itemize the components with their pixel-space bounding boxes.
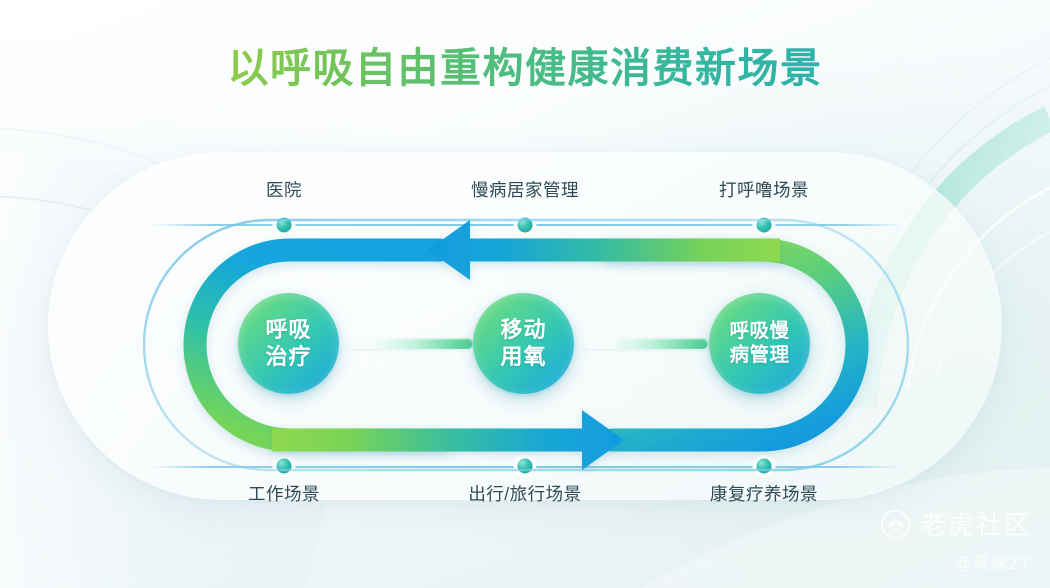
page-title: 以呼吸自由重构健康消费新场景: [0, 44, 1050, 93]
watermark-name: 老虎社区: [920, 512, 1032, 538]
bottom-label-travel: 出行/旅行场景: [468, 481, 581, 506]
bottom-label-work: 工作场景: [248, 481, 320, 506]
node-1-line-1: 呼吸: [265, 317, 311, 344]
node-3-line-1: 呼吸慢: [729, 320, 789, 344]
bottom-arrow-right: [272, 410, 624, 470]
watermark: 老虎社区 @真探ZT: [880, 509, 1032, 574]
top-label-snoring: 打呼噜场景: [719, 177, 809, 202]
watermark-brand: 老虎社区: [880, 509, 1032, 540]
connector-node2-node3: [583, 338, 708, 349]
top-arrow-left: [428, 220, 780, 280]
node-3-line-2: 病管理: [729, 344, 789, 368]
connector-node1-node2: [348, 338, 473, 349]
node-respiratory-therapy[interactable]: 呼吸 治疗: [238, 293, 339, 394]
watermark-handle: @真探ZT: [880, 549, 1032, 574]
tiger-community-logo-icon: [880, 509, 911, 540]
node-1-line-2: 治疗: [265, 344, 311, 371]
node-chronic-respiratory-management[interactable]: 呼吸慢 病管理: [709, 293, 810, 394]
top-label-home-care: 慢病居家管理: [471, 177, 579, 202]
bottom-label-rehab: 康复疗养场景: [710, 481, 818, 506]
top-label-hospital: 医院: [266, 177, 302, 202]
slide-canvas: 以呼吸自由重构健康消费新场景 医院 慢病居家管理 打呼噜场景 工作场景 出行/旅…: [0, 0, 1050, 588]
node-2-line-1: 移动: [500, 317, 546, 344]
node-mobile-oxygen[interactable]: 移动 用氧: [473, 293, 574, 394]
node-2-line-2: 用氧: [500, 344, 546, 371]
